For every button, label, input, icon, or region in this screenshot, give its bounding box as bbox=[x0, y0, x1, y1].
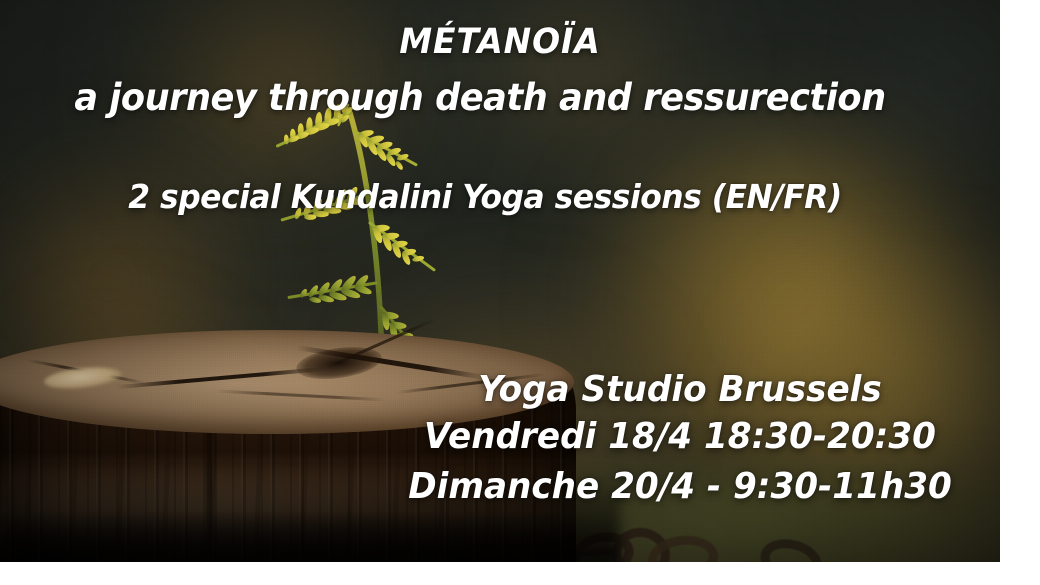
background-photo: MÉTANOÏA a journey through death and res… bbox=[0, 0, 1000, 562]
poster-canvas: MÉTANOÏA a journey through death and res… bbox=[0, 0, 1040, 585]
photo-grain bbox=[0, 0, 1000, 562]
